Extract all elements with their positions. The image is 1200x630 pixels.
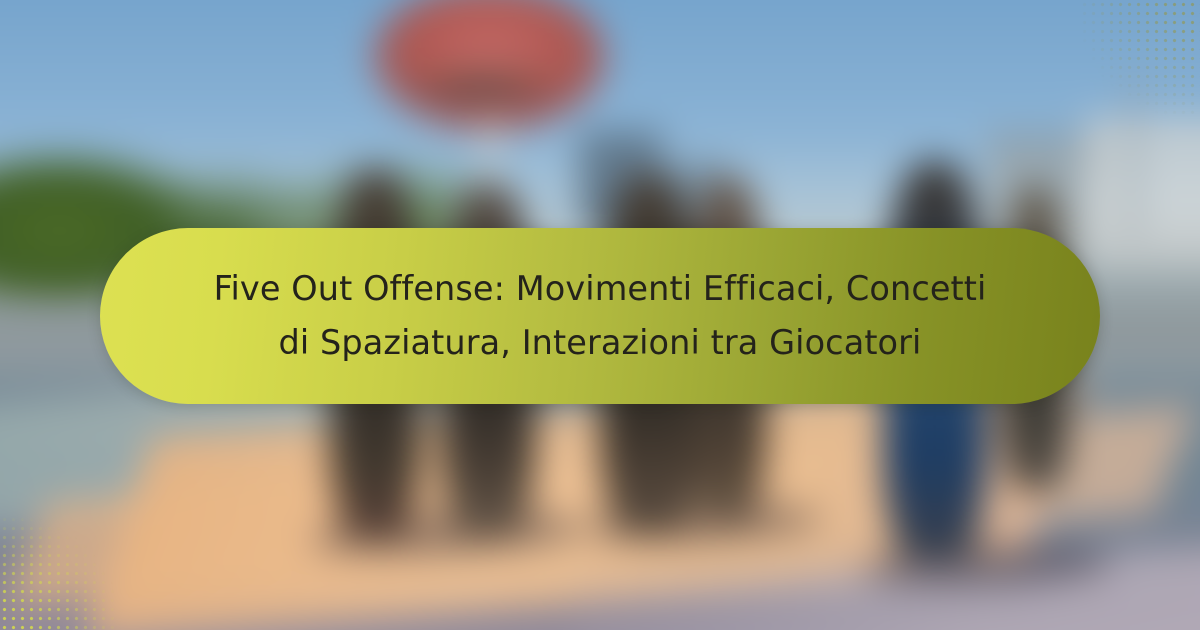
- light-pole: [1129, 70, 1139, 239]
- basketball-hoop-rim: [406, 70, 558, 108]
- share-card-canvas: Five Out Offense: Movimenti Efficaci, Co…: [0, 0, 1200, 630]
- title-line-1: Five Out Offense: Movimenti Efficaci, Co…: [214, 269, 987, 308]
- title-line-2: di Spaziatura, Interazioni tra Giocatori: [279, 323, 922, 362]
- building-far-d: [1084, 116, 1200, 269]
- title-banner: Five Out Offense: Movimenti Efficaci, Co…: [100, 228, 1100, 404]
- page-title: Five Out Offense: Movimenti Efficaci, Co…: [168, 262, 1033, 371]
